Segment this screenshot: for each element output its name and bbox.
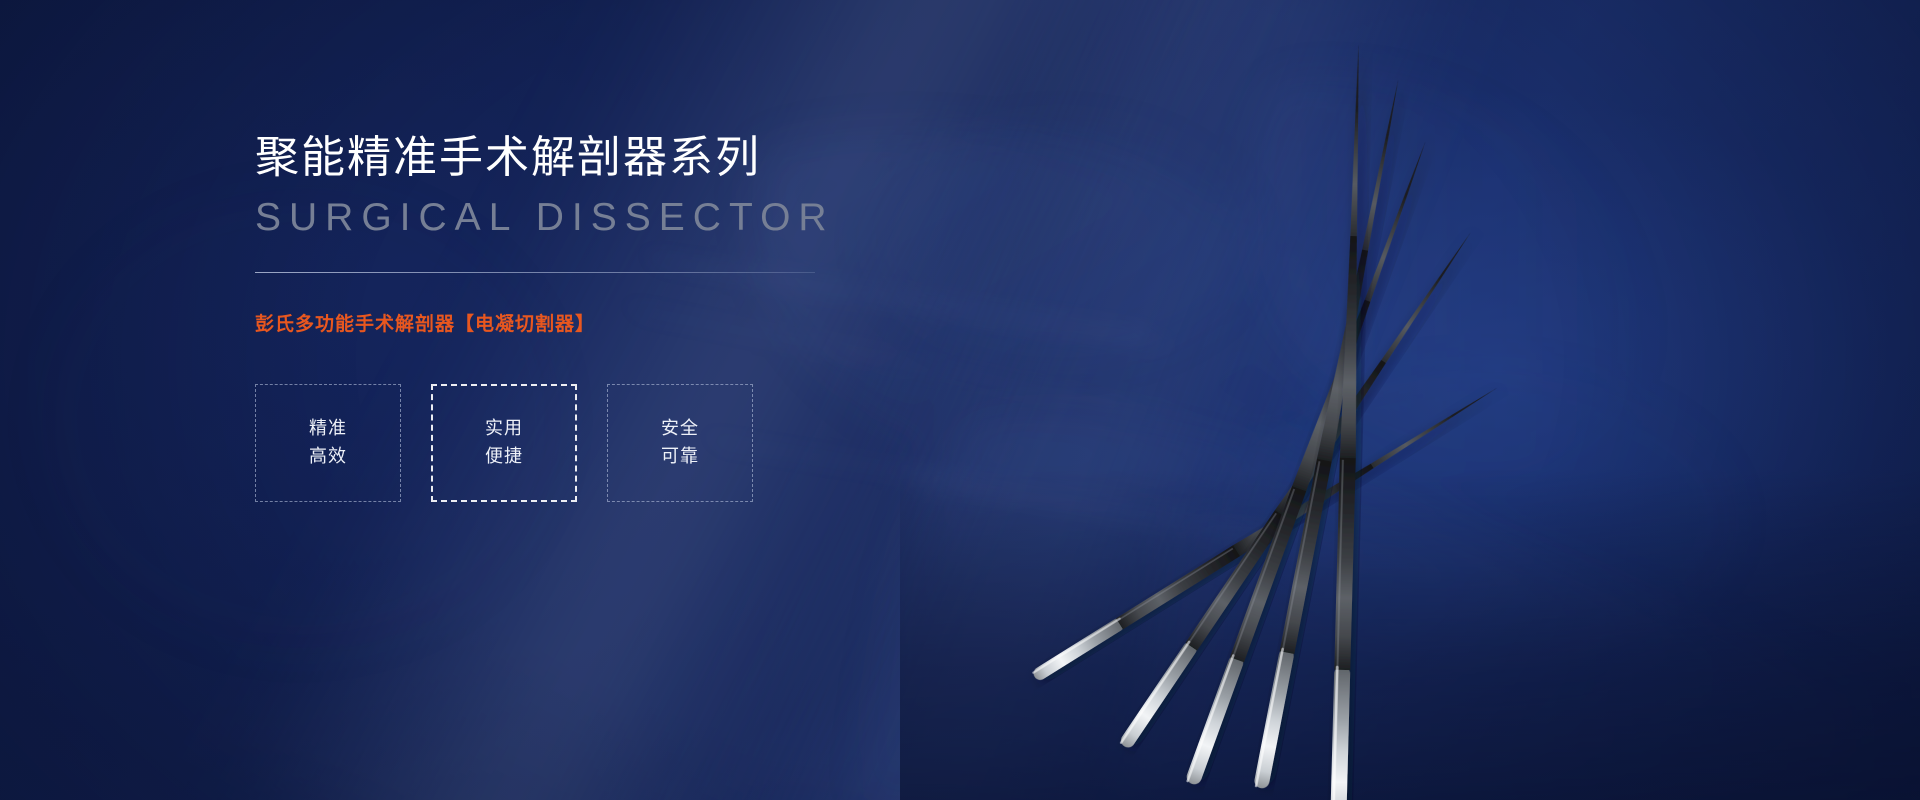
feature-badge-list: 精准 高效 实用 便捷 安全 可靠 — [255, 384, 895, 502]
feature-badge-line1: 精准 — [309, 415, 347, 443]
title-divider — [255, 272, 815, 273]
feature-badge-safety: 安全 可靠 — [607, 384, 753, 502]
page-title: 聚能精准手术解剖器系列 — [255, 130, 895, 185]
feature-badge-line1: 安全 — [661, 415, 699, 443]
product-hero-banner: 聚能精准手术解剖器系列 SURGICAL DISSECTOR 彭氏多功能手术解剖… — [0, 0, 1920, 800]
feature-badge-line2: 便捷 — [485, 443, 523, 471]
page-subtitle-en: SURGICAL DISSECTOR — [255, 197, 895, 240]
feature-badge-practical: 实用 便捷 — [431, 384, 577, 502]
feature-badge-precision: 精准 高效 — [255, 384, 401, 502]
feature-badge-line2: 高效 — [309, 443, 347, 471]
banner-content: 聚能精准手术解剖器系列 SURGICAL DISSECTOR 彭氏多功能手术解剖… — [255, 130, 895, 502]
feature-badge-line1: 实用 — [485, 415, 523, 443]
product-name-highlight: 彭氏多功能手术解剖器【电凝切割器】 — [255, 309, 895, 336]
feature-badge-line2: 可靠 — [661, 443, 699, 471]
